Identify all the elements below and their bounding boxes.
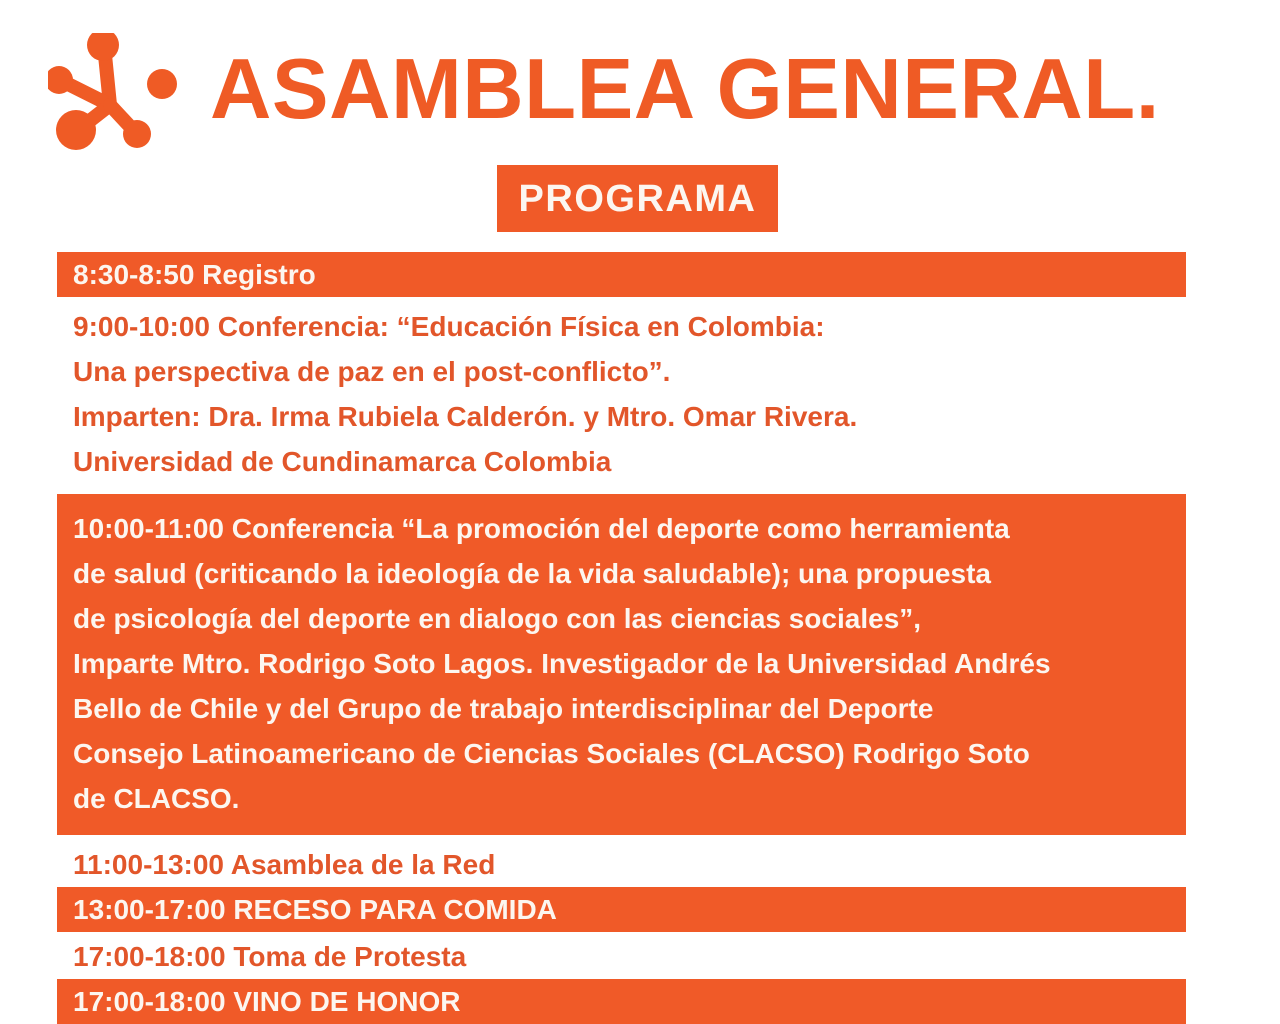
schedule-row-receso: 13:00-17:00 RECESO PARA COMIDA: [57, 887, 1186, 932]
schedule-list: 8:30-8:50 Registro 9:00-10:00 Conferenci…: [57, 252, 1186, 1024]
schedule-line: Imparten: Dra. Irma Rubiela Calderón. y …: [73, 394, 1170, 439]
row-spacer: [57, 487, 1186, 494]
schedule-line: 8:30-8:50 Registro: [73, 252, 1170, 297]
programa-badge: PROGRAMA: [497, 165, 778, 232]
programa-badge-label: PROGRAMA: [519, 180, 757, 218]
schedule-row-conferencia-2: 10:00-11:00 Conferencia “La promoción de…: [57, 494, 1186, 835]
schedule-line: Bello de Chile y del Grupo de trabajo in…: [73, 686, 1170, 731]
schedule-row-conferencia-1: 9:00-10:00 Conferencia: “Educación Físic…: [57, 302, 1186, 487]
network-nodes-icon: [48, 33, 180, 153]
schedule-line: 17:00-18:00 VINO DE HONOR: [73, 979, 1170, 1024]
schedule-line: de salud (criticando la ideología de la …: [73, 551, 1170, 596]
schedule-line: Consejo Latinoamericano de Ciencias Soci…: [73, 731, 1170, 776]
schedule-line: de psicología del deporte en dialogo con…: [73, 596, 1170, 641]
schedule-line: Universidad de Cundinamarca Colombia: [73, 439, 1170, 484]
schedule-line: 11:00-13:00 Asamblea de la Red: [73, 842, 1170, 887]
schedule-row-vino: 17:00-18:00 VINO DE HONOR: [57, 979, 1186, 1024]
schedule-line: de CLACSO.: [73, 776, 1170, 821]
schedule-line: Imparte Mtro. Rodrigo Soto Lagos. Invest…: [73, 641, 1170, 686]
schedule-line: 17:00-18:00 Toma de Protesta: [73, 934, 1170, 979]
schedule-row-registro: 8:30-8:50 Registro: [57, 252, 1186, 297]
poster-header: ASAMBLEA GENERAL.: [0, 28, 1280, 153]
schedule-row-asamblea: 11:00-13:00 Asamblea de la Red: [57, 840, 1186, 887]
page-title: ASAMBLEA GENERAL.: [210, 30, 1160, 150]
schedule-line: Una perspectiva de paz en el post-confli…: [73, 349, 1170, 394]
schedule-line: 10:00-11:00 Conferencia “La promoción de…: [73, 506, 1170, 551]
schedule-line: 13:00-17:00 RECESO PARA COMIDA: [73, 887, 1170, 932]
poster-root: ASAMBLEA GENERAL. PROGRAMA 8:30-8:50 Reg…: [0, 0, 1280, 1015]
schedule-row-protesta: 17:00-18:00 Toma de Protesta: [57, 932, 1186, 979]
schedule-line: 9:00-10:00 Conferencia: “Educación Físic…: [73, 304, 1170, 349]
